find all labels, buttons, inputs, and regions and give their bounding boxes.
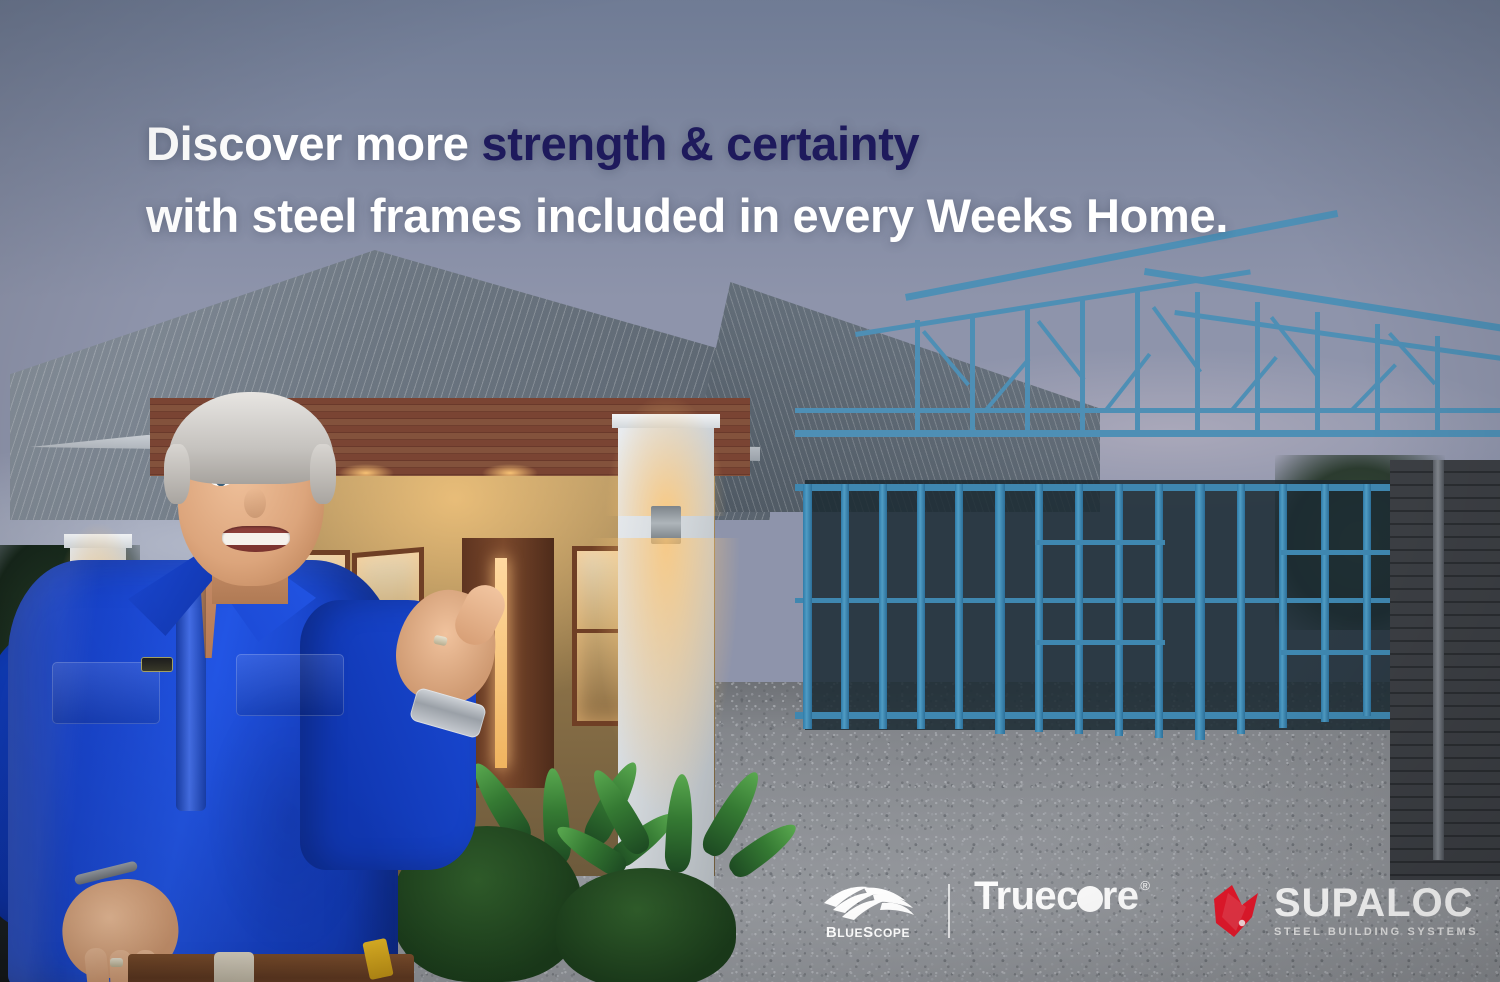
- truss-diagonal: [1105, 353, 1151, 411]
- plant-leaf: [664, 773, 695, 872]
- window-opening-sill: [1281, 650, 1401, 655]
- truss-purlin: [795, 408, 1500, 413]
- window-opening-head: [1035, 540, 1165, 545]
- wall-stud: [1115, 484, 1123, 736]
- shrub-front-right: [556, 868, 736, 982]
- wall-stud: [1155, 484, 1163, 738]
- truss-diagonal: [922, 330, 970, 386]
- wall-stud: [879, 484, 887, 729]
- brick-wall-right: [1390, 460, 1500, 880]
- truecore-o-dot-icon: [1077, 886, 1103, 912]
- pillar-uplight-glow: [606, 396, 726, 516]
- bluescope-logo: BLUESCOPE: [812, 876, 924, 946]
- wall-corner-stud: [995, 484, 1005, 734]
- partner-logo-bar: BLUESCOPE Truecre ® SUPALOC STEEL BUILDI…: [812, 876, 1478, 946]
- truss-diagonal: [985, 357, 1030, 410]
- nose: [244, 488, 266, 518]
- logo-divider: [948, 884, 950, 938]
- advertisement-banner: Discover more strength & certainty with …: [0, 0, 1500, 982]
- truss-web: [1025, 306, 1030, 432]
- truss-web: [1135, 288, 1140, 432]
- downpipe: [1433, 460, 1444, 860]
- finger-ring-left: [110, 958, 123, 967]
- feature-plant-right: [608, 700, 758, 880]
- headline-line-1: Discover more strength & certainty: [146, 108, 1366, 180]
- truss-diagonal: [1037, 320, 1086, 381]
- wall-stud: [1363, 484, 1371, 716]
- truss-diagonal: [1388, 332, 1436, 385]
- wall-stud: [1237, 484, 1245, 734]
- bluescope-wave-icon: [820, 882, 916, 922]
- wall-stud: [1321, 484, 1329, 722]
- hair-sideburn-left: [164, 444, 190, 504]
- wall-stud: [1075, 484, 1083, 734]
- steel-frame-structure: [795, 280, 1500, 800]
- shirt-brand-badge: [142, 658, 172, 671]
- window-opening-head: [1281, 550, 1401, 555]
- truss-diagonal: [1270, 316, 1320, 378]
- headline: Discover more strength & certainty with …: [146, 108, 1366, 252]
- truecore-logo: Truecre ®: [974, 876, 1150, 946]
- wall-stud: [841, 484, 849, 729]
- presenter-figure: [0, 400, 520, 982]
- supaloc-wordmark: SUPALOC: [1274, 884, 1478, 922]
- wall-corner-stud: [1195, 484, 1205, 740]
- headline-line-2: with steel frames included in every Week…: [146, 180, 1366, 252]
- shirt-pocket-left: [52, 662, 160, 724]
- wall-stud: [955, 484, 963, 729]
- truss-bottom-chord: [795, 430, 1500, 437]
- bluescope-wordmark: BLUESCOPE: [826, 924, 910, 941]
- truecore-registered-symbol: ®: [1140, 878, 1150, 893]
- wall-stud: [1279, 484, 1287, 728]
- supaloc-tagline: STEEL BUILDING SYSTEMS: [1274, 926, 1478, 938]
- headline-accent-phrase: strength & certainty: [481, 117, 919, 170]
- hair-sideburn-right: [310, 444, 336, 504]
- window-opening-sill: [1035, 640, 1165, 645]
- headline-line-1-white: Discover more: [146, 117, 481, 170]
- truss-web: [915, 320, 920, 432]
- truecore-wordmark: Truecre: [974, 876, 1138, 916]
- mouth-smile: [222, 526, 290, 552]
- supaloc-logo: SUPALOC STEEL BUILDING SYSTEMS: [1212, 876, 1478, 946]
- truss-web: [1255, 302, 1260, 432]
- belt-buckle: [214, 952, 254, 982]
- wall-stud: [803, 484, 812, 729]
- truss-web: [970, 314, 975, 432]
- shirt-pocket-right: [236, 654, 344, 716]
- supaloc-angular-icon: [1212, 883, 1270, 939]
- truss-diagonal: [1351, 363, 1397, 410]
- wall-stud: [1035, 484, 1043, 732]
- truss-web: [1080, 298, 1085, 432]
- wall-stud: [917, 484, 925, 729]
- truss-web: [1435, 336, 1440, 432]
